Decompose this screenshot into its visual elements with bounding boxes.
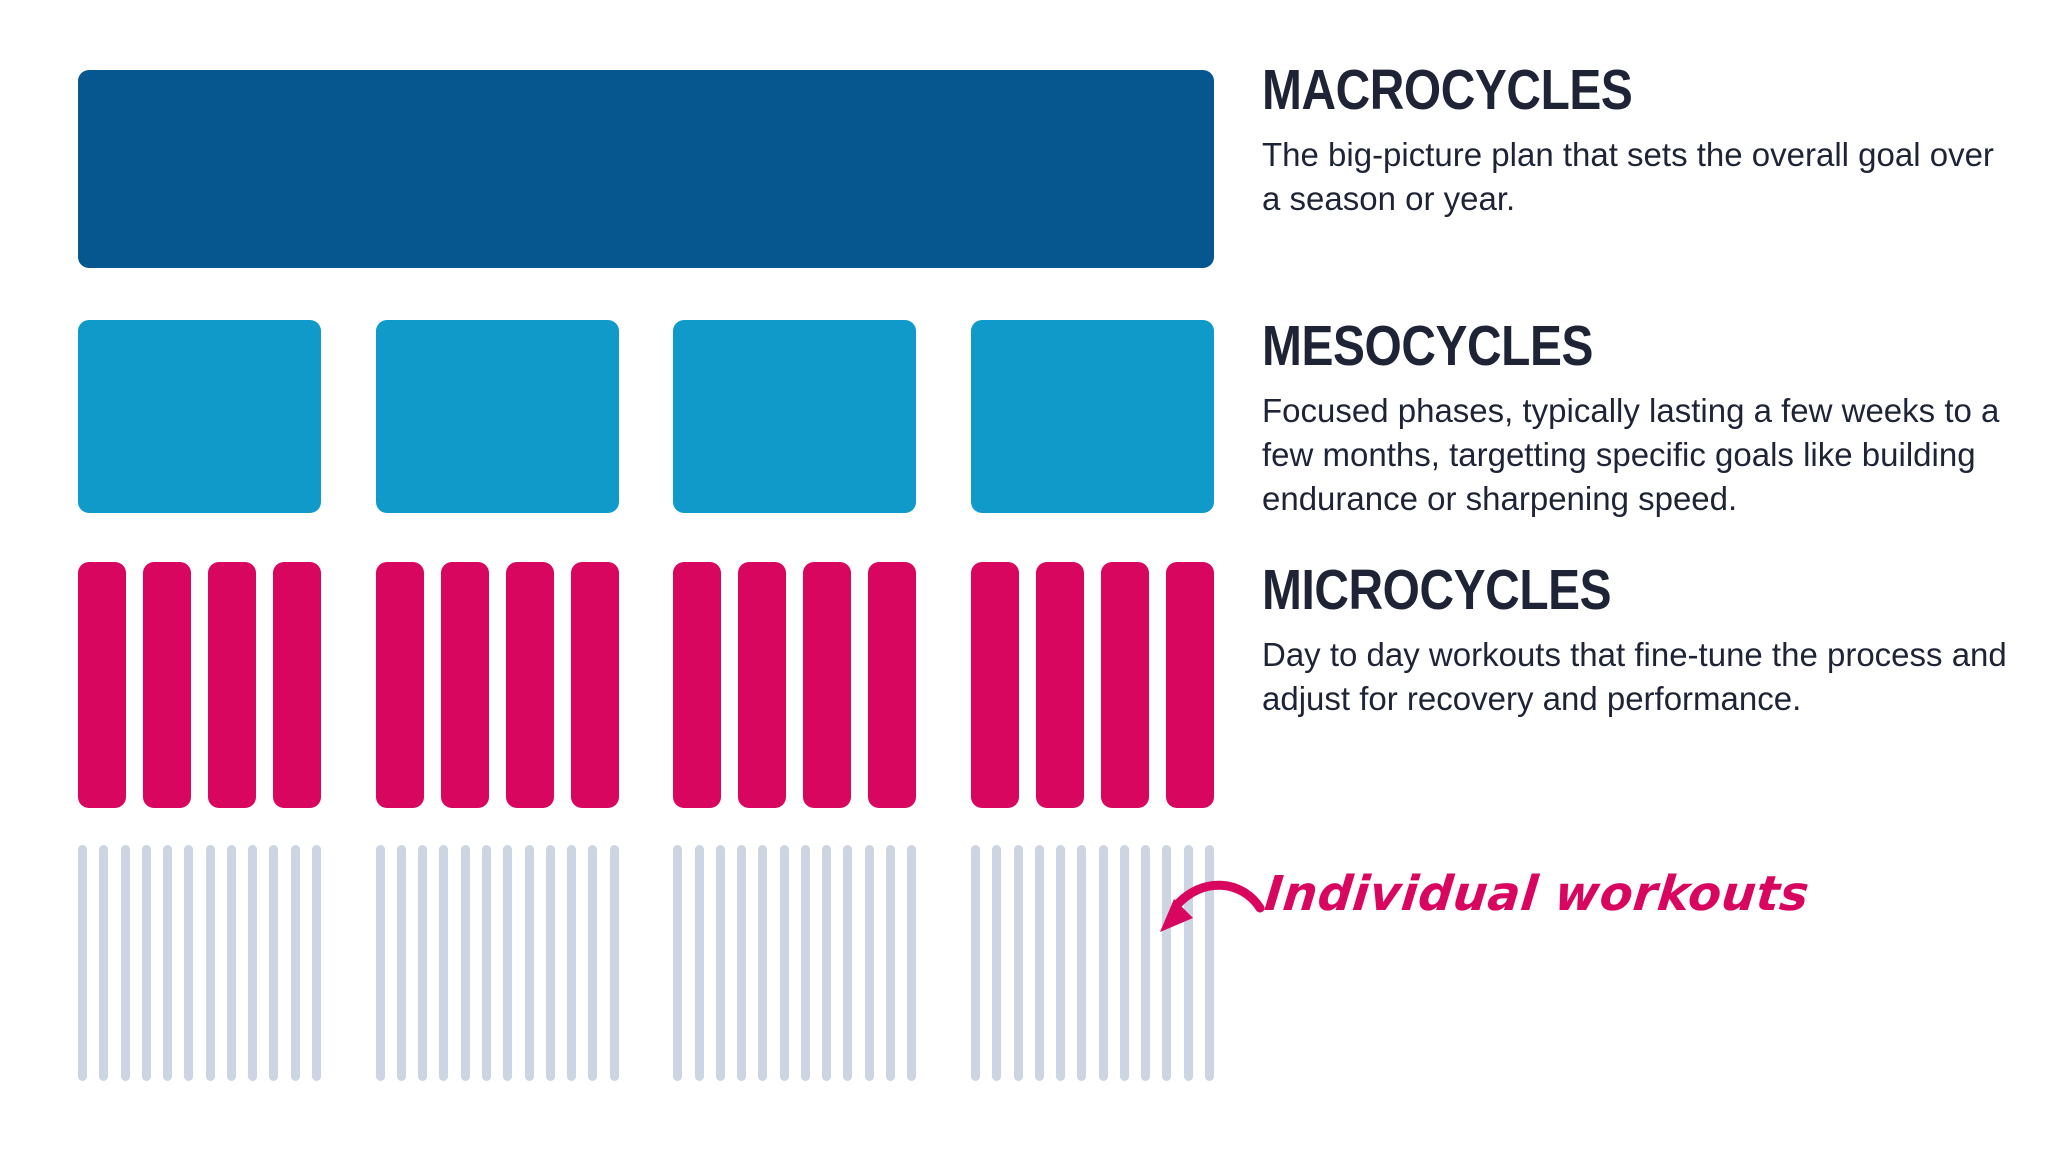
workout-line [1099, 845, 1108, 1081]
mesocycle-block [971, 320, 1214, 513]
microcycle-block [1166, 562, 1214, 808]
macrocycle-block [78, 70, 1214, 268]
microcycle-block [803, 562, 851, 808]
workout-line [843, 845, 852, 1081]
cycle-diagram [78, 0, 1214, 1152]
mesocycle-block [78, 320, 321, 513]
workout-line [695, 845, 704, 1081]
workout-group [673, 845, 916, 1081]
workout-line [142, 845, 151, 1081]
workout-line [227, 845, 236, 1081]
microcycle-group [376, 562, 619, 808]
workout-line [1035, 845, 1044, 1081]
individual-workouts-annotation: Individual workouts [1150, 862, 1790, 982]
individual-workouts-row [78, 845, 1214, 1081]
microcycle-block [1036, 562, 1084, 808]
mesocycles-heading: MESOCYCLES [1262, 318, 1900, 375]
workout-line [758, 845, 767, 1081]
microcycle-block [506, 562, 554, 808]
microcycle-row [78, 562, 1214, 808]
mesocycles-description: Focused phases, typically lasting a few … [1262, 389, 2014, 521]
microcycle-block [738, 562, 786, 808]
macrocycles-text-block: MACROCYCLES The big-picture plan that se… [1262, 62, 2022, 221]
workout-line [992, 845, 1001, 1081]
workout-line [376, 845, 385, 1081]
workout-line [1141, 845, 1150, 1081]
microcycle-block [143, 562, 191, 808]
curved-arrow-icon [1150, 862, 1270, 972]
microcycle-block [1101, 562, 1149, 808]
workout-line [567, 845, 576, 1081]
workout-line [907, 845, 916, 1081]
workout-line [801, 845, 810, 1081]
workout-line [822, 845, 831, 1081]
microcycle-block [673, 562, 721, 808]
macrocycles-description: The big-picture plan that sets the overa… [1262, 133, 2014, 221]
mesocycles-text-block: MESOCYCLES Focused phases, typically las… [1262, 318, 2022, 521]
microcycle-group [971, 562, 1214, 808]
microcycle-block [971, 562, 1019, 808]
microcycle-block [571, 562, 619, 808]
microcycle-group [78, 562, 321, 808]
workout-line [397, 845, 406, 1081]
workout-line [418, 845, 427, 1081]
infographic-canvas: MACROCYCLES The big-picture plan that se… [0, 0, 2048, 1152]
workout-line [503, 845, 512, 1081]
workout-line [121, 845, 130, 1081]
mesocycle-row [78, 320, 1214, 513]
microcycles-heading: MICROCYCLES [1262, 562, 1900, 619]
workout-line [971, 845, 980, 1081]
workout-line [546, 845, 555, 1081]
workout-line [461, 845, 470, 1081]
workout-line [865, 845, 874, 1081]
workout-line [716, 845, 725, 1081]
microcycle-block [78, 562, 126, 808]
workout-line [291, 845, 300, 1081]
microcycle-block [376, 562, 424, 808]
workout-line [269, 845, 278, 1081]
workout-line [780, 845, 789, 1081]
macrocycles-heading: MACROCYCLES [1262, 62, 1900, 119]
workout-line [1014, 845, 1023, 1081]
mesocycle-block [376, 320, 619, 513]
workout-line [312, 845, 321, 1081]
macrocycle-row [78, 70, 1214, 268]
workout-line [248, 845, 257, 1081]
mesocycle-block [673, 320, 916, 513]
workout-line [184, 845, 193, 1081]
workout-line [610, 845, 619, 1081]
workout-line [99, 845, 108, 1081]
microcycle-group [673, 562, 916, 808]
microcycle-block [441, 562, 489, 808]
workout-line [163, 845, 172, 1081]
workout-line [206, 845, 215, 1081]
workout-group [78, 845, 321, 1081]
workout-line [78, 845, 87, 1081]
workout-line [1077, 845, 1086, 1081]
workout-line [673, 845, 682, 1081]
microcycles-description: Day to day workouts that fine-tune the p… [1262, 633, 2014, 721]
workout-line [588, 845, 597, 1081]
workout-group [376, 845, 619, 1081]
workout-line [886, 845, 895, 1081]
microcycle-block [868, 562, 916, 808]
workout-line [1056, 845, 1065, 1081]
workout-line [525, 845, 534, 1081]
annotation-label: Individual workouts [1262, 870, 1811, 918]
workout-line [1120, 845, 1129, 1081]
microcycle-block [208, 562, 256, 808]
microcycle-block [273, 562, 321, 808]
workout-line [482, 845, 491, 1081]
workout-line [737, 845, 746, 1081]
workout-line [439, 845, 448, 1081]
microcycles-text-block: MICROCYCLES Day to day workouts that fin… [1262, 562, 2022, 721]
